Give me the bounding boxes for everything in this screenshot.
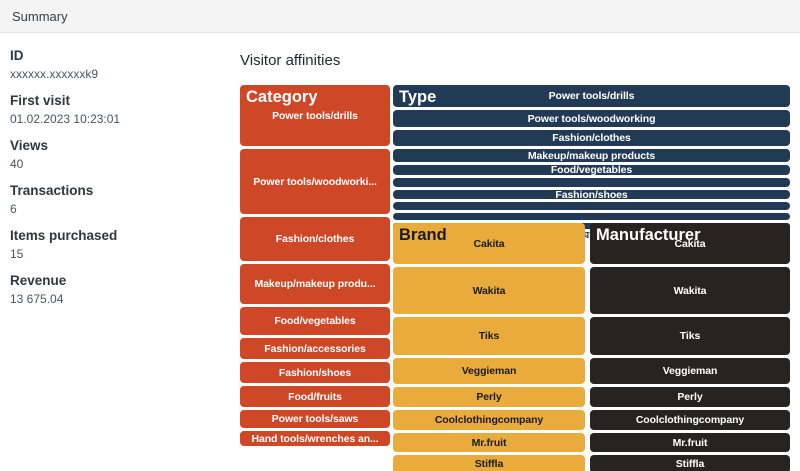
bar-label: Wakita	[473, 285, 506, 297]
bar-label: Mr.fruit	[673, 437, 708, 449]
bar-manufacturer[interactable]: Veggieman	[590, 358, 790, 384]
summary-value-first-visit: 01.02.2023 10:23:01	[10, 112, 225, 127]
bar-label: Stiffla	[676, 458, 704, 470]
summary-label-items-purchased: Items purchased	[10, 228, 225, 244]
bar-label: Fashion/clothes	[276, 233, 354, 245]
bar-category[interactable]: Fashion/clothes	[240, 217, 390, 261]
summary-value-revenue: 13 675.04	[10, 292, 225, 307]
summary-label-views: Views	[10, 138, 225, 154]
summary-value-transactions: 6	[10, 202, 225, 217]
summary-value-id: xxxxxx.xxxxxxk9	[10, 67, 225, 82]
bar-manufacturer[interactable]: Tiks	[590, 317, 790, 355]
bar-label: Stiffla	[475, 458, 503, 470]
bar-category[interactable]: Makeup/makeup produ...	[240, 264, 390, 304]
bar-label: Perly	[476, 391, 501, 403]
bar-label: Food/vegetables	[274, 315, 355, 327]
bar-label: Wakita	[674, 285, 707, 297]
bar-type[interactable]: Food/vegetables	[393, 165, 790, 175]
bar-label: Power tools/drills	[272, 110, 358, 122]
bar-type[interactable]: Fashion/clothes	[393, 130, 790, 146]
bar-type[interactable]	[393, 202, 790, 210]
bar-label: Coolclothingcompany	[636, 414, 744, 426]
bar-category[interactable]: Power tools/woodworki...	[240, 149, 390, 214]
bar-type[interactable]: Power tools/drills	[393, 85, 790, 107]
bar-label: Power tools/drills	[549, 90, 635, 102]
bar-type[interactable]: Makeup/makeup products	[393, 149, 790, 162]
summary-panel: IDxxxxxx.xxxxxxk9First visit01.02.2023 1…	[10, 48, 225, 318]
bar-manufacturer[interactable]: Wakita	[590, 267, 790, 314]
bar-brand[interactable]: Tiks	[393, 317, 585, 355]
bar-manufacturer[interactable]: Cakita	[590, 223, 790, 264]
bar-manufacturer[interactable]: Mr.fruit	[590, 433, 790, 452]
bar-type[interactable]: Power tools/woodworking	[393, 110, 790, 127]
bar-brand[interactable]: Cakita	[393, 223, 585, 264]
bar-label: Food/fruits	[288, 391, 342, 403]
bar-label: Perly	[677, 391, 702, 403]
bar-category[interactable]: Food/vegetables	[240, 307, 390, 335]
bar-category[interactable]: Fashion/accessories	[240, 338, 390, 359]
summary-label-first-visit: First visit	[10, 93, 225, 109]
bar-label: Tiks	[479, 330, 499, 342]
bar-category[interactable]: Hand tools/wrenches an...	[240, 431, 390, 446]
bar-manufacturer[interactable]: Coolclothingcompany	[590, 410, 790, 430]
bar-category[interactable]: Food/fruits	[240, 386, 390, 407]
bar-label: Cakita	[675, 238, 706, 250]
summary-label-transactions: Transactions	[10, 183, 225, 199]
bar-type[interactable]	[393, 213, 790, 220]
bar-label: Power tools/saws	[272, 413, 359, 425]
bar-brand[interactable]: Coolclothingcompany	[393, 410, 585, 430]
chart-column-type: Type Power tools/drillsPower tools/woodw…	[393, 85, 790, 241]
bar-label: Veggieman	[663, 365, 718, 377]
bar-label: Power tools/woodworking	[528, 113, 656, 125]
chart-column-manufacturer: Manufacturer CakitaWakitaTiksVeggiemanPe…	[590, 223, 790, 471]
bar-brand[interactable]: Perly	[393, 387, 585, 407]
window-header: Summary	[0, 0, 800, 33]
chart-column-category: Category Power tools/drillsPower tools/w…	[240, 85, 390, 449]
summary-label-revenue: Revenue	[10, 273, 225, 289]
app-root: Summary IDxxxxxx.xxxxxxk9First visit01.0…	[0, 0, 800, 471]
bar-brand[interactable]: Stiffla	[393, 455, 585, 471]
visitor-affinities-chart: Category Power tools/drillsPower tools/w…	[240, 85, 790, 465]
bar-label: Veggieman	[462, 365, 517, 377]
bar-label: Hand tools/wrenches an...	[251, 433, 378, 445]
bar-label: Power tools/woodworki...	[253, 176, 377, 188]
bar-brand[interactable]: Wakita	[393, 267, 585, 314]
bar-manufacturer[interactable]: Perly	[590, 387, 790, 407]
bar-type[interactable]	[393, 178, 790, 187]
summary-value-views: 40	[10, 157, 225, 172]
summary-value-items-purchased: 15	[10, 247, 225, 262]
bar-brand[interactable]: Mr.fruit	[393, 433, 585, 452]
bar-label: Makeup/makeup produ...	[255, 278, 376, 290]
summary-label-id: ID	[10, 48, 225, 64]
bar-label: Fashion/shoes	[279, 367, 351, 379]
bar-category[interactable]: Power tools/drills	[240, 85, 390, 146]
bar-manufacturer[interactable]: Stiffla	[590, 455, 790, 471]
bar-label: Fashion/shoes	[555, 190, 627, 199]
bar-label: Fashion/accessories	[264, 343, 365, 355]
bar-category[interactable]: Power tools/saws	[240, 410, 390, 428]
bar-brand[interactable]: Veggieman	[393, 358, 585, 384]
bar-label: Tiks	[680, 330, 700, 342]
chart-title: Visitor affinities	[240, 52, 340, 69]
bar-label: Mr.fruit	[472, 437, 507, 449]
bar-label: Cakita	[474, 238, 505, 250]
chart-column-brand: Brand CakitaWakitaTiksVeggiemanPerlyCool…	[393, 223, 585, 471]
bar-category[interactable]: Fashion/shoes	[240, 362, 390, 383]
bar-label: Food/vegetables	[551, 165, 632, 175]
bar-label: Makeup/makeup products	[528, 150, 655, 162]
bar-type[interactable]: Fashion/shoes	[393, 190, 790, 199]
page-title: Summary	[12, 9, 68, 24]
bar-label: Coolclothingcompany	[435, 414, 543, 426]
bar-label: Fashion/clothes	[552, 132, 630, 144]
